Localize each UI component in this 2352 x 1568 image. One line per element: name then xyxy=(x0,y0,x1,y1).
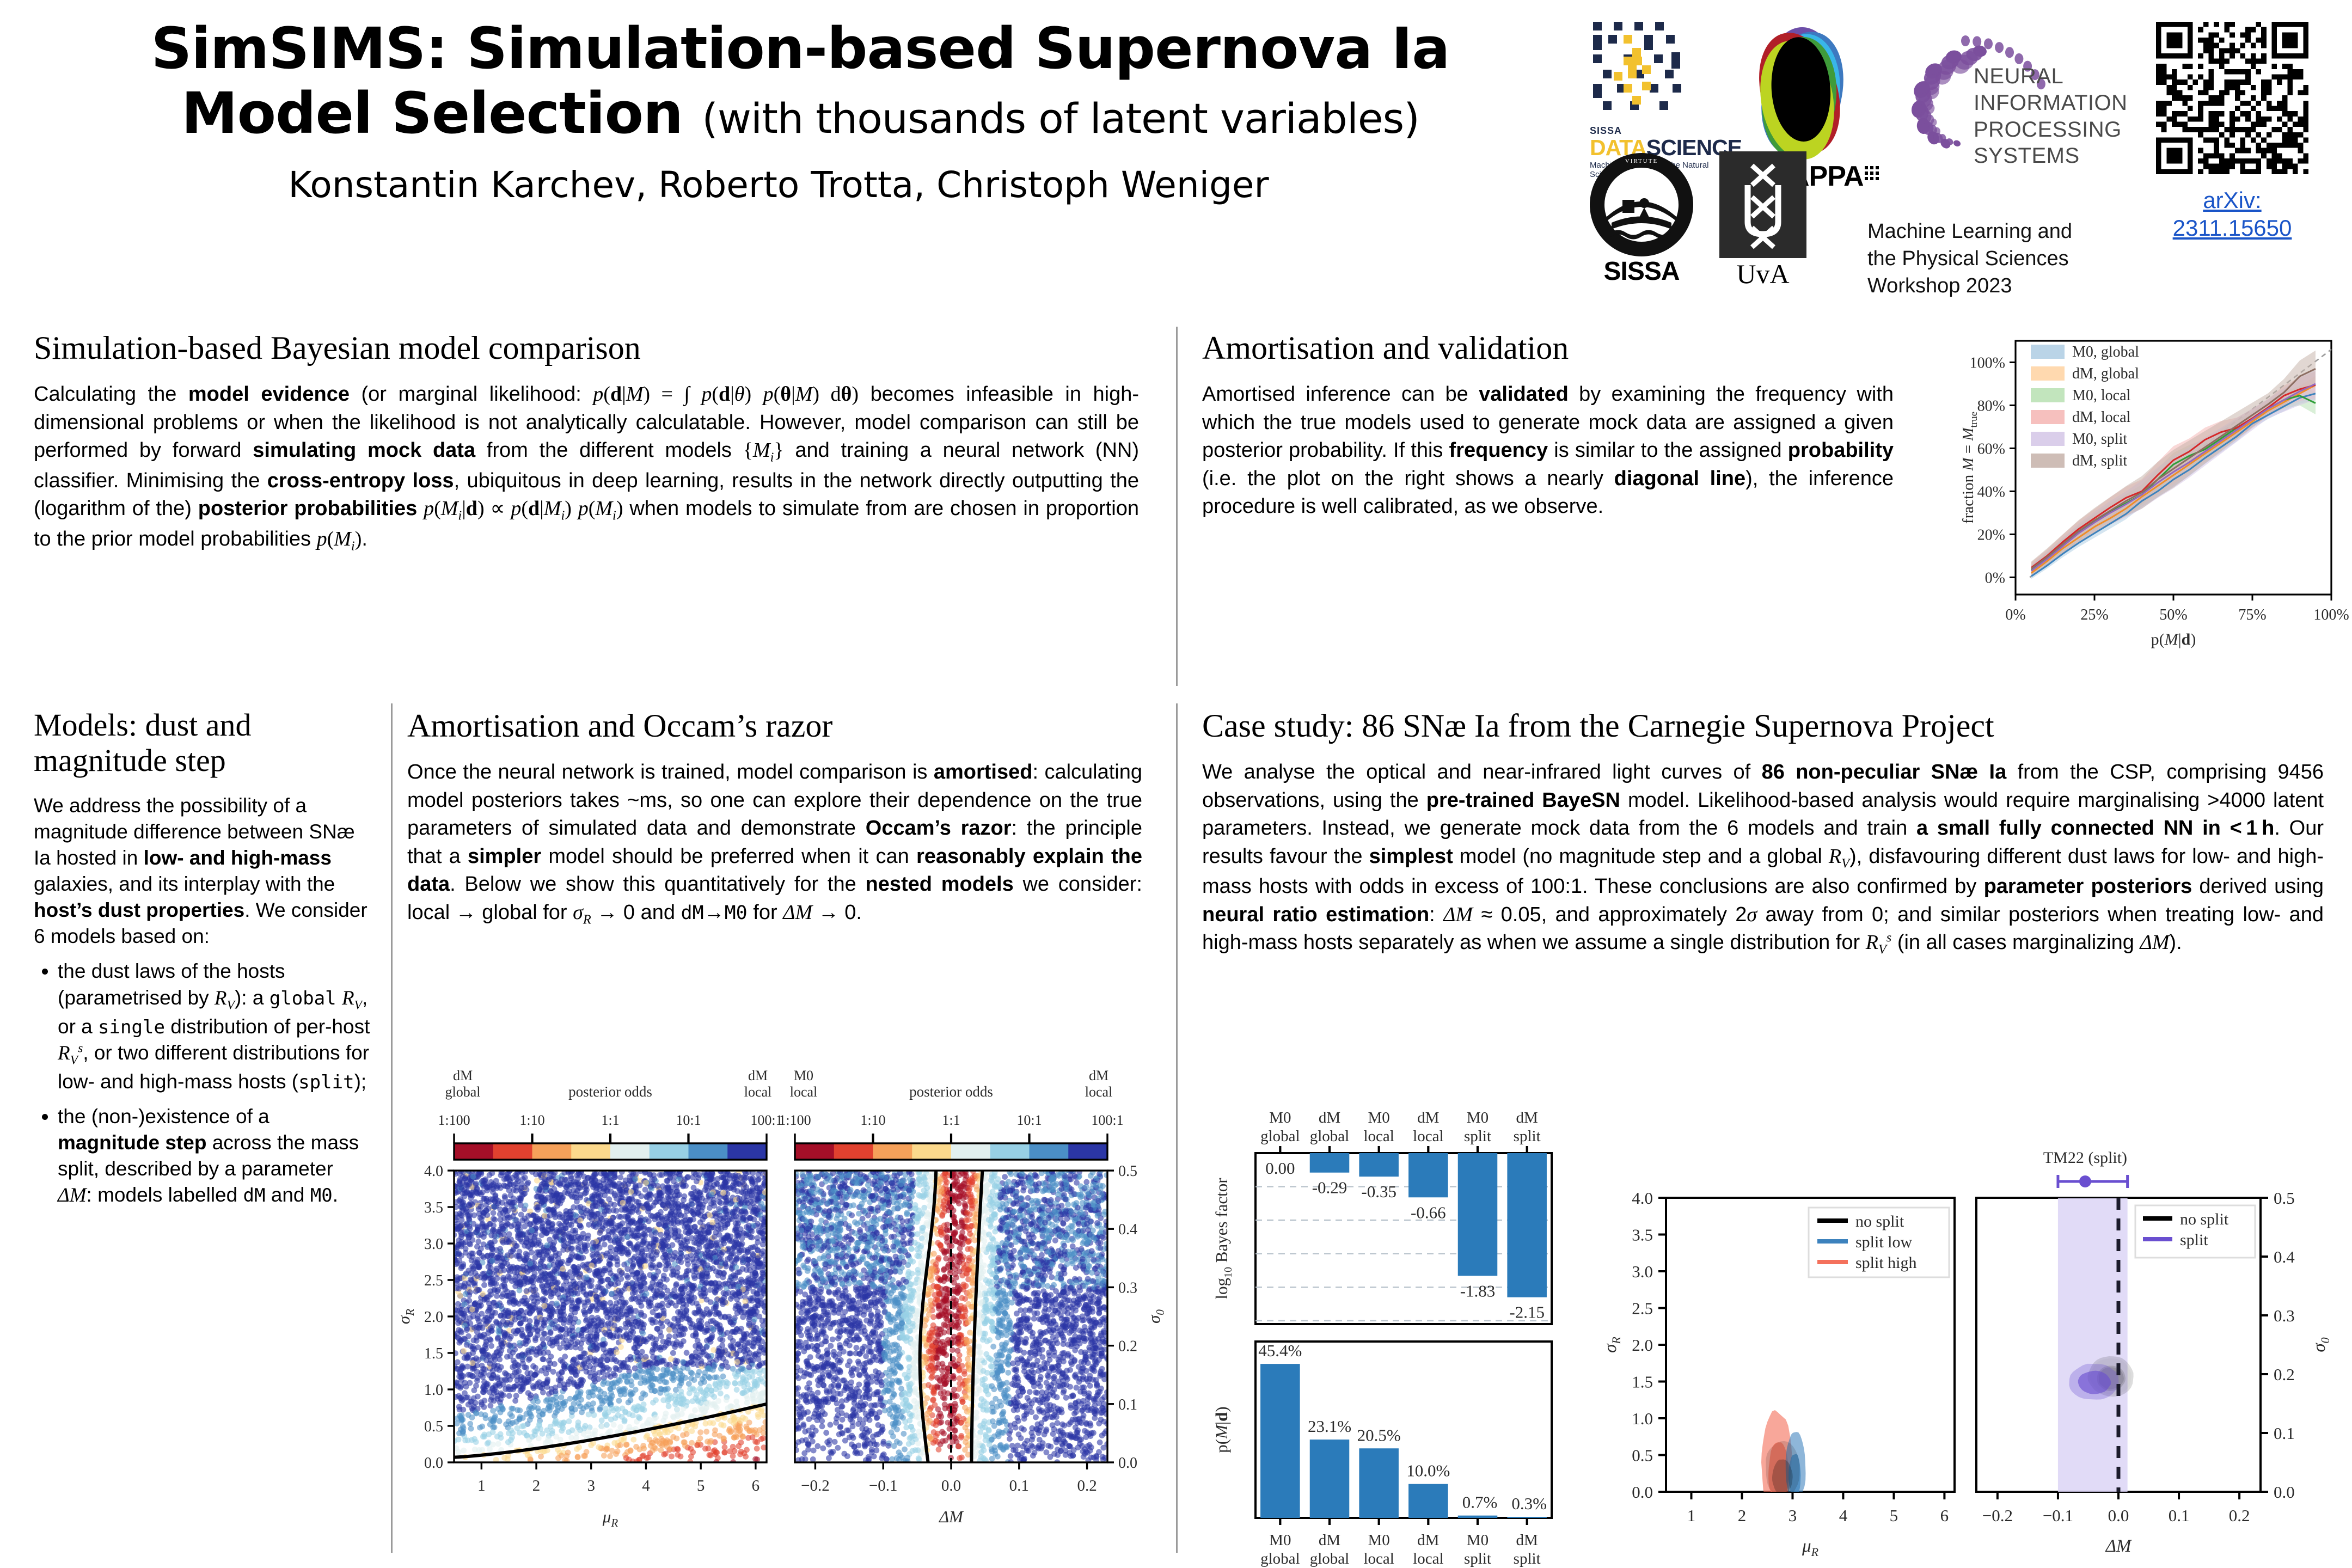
svg-text:M0: M0 xyxy=(794,1068,813,1083)
bar xyxy=(1359,1448,1399,1518)
model-bullet-list: the dust laws of the hosts (parametrised… xyxy=(34,958,371,1209)
divider-vertical-left xyxy=(391,703,393,1553)
svg-text:M0, local: M0, local xyxy=(2072,387,2131,404)
svg-text:dM, local: dM, local xyxy=(2072,409,2131,426)
code-single: single xyxy=(98,1016,165,1038)
svg-text:M0, split: M0, split xyxy=(2072,431,2127,448)
svg-text:VIRTUTE: VIRTUTE xyxy=(1625,158,1658,164)
section-body: We analyse the optical and near-infrared… xyxy=(1202,758,2324,959)
grappa-ring-icon xyxy=(1748,24,1857,160)
svg-text:1:10: 1:10 xyxy=(860,1112,885,1128)
bar xyxy=(1458,1516,1498,1518)
figure-calibration: 0%20%40%60%80%100%0%25%50%75%100%p(M|d)f… xyxy=(1916,324,2347,684)
code-M0: M0 xyxy=(310,1185,333,1206)
workshop-label: Machine Learning and the Physical Scienc… xyxy=(1867,218,2123,299)
svg-text:100%: 100% xyxy=(1970,354,2005,371)
svg-text:20%: 20% xyxy=(1977,526,2005,543)
svg-text:dM: dM xyxy=(453,1068,473,1083)
section-amortisation-validation: Amortisation and validation Amortised in… xyxy=(1202,330,1894,521)
divider-vertical-mid-top xyxy=(1176,327,1178,686)
bar xyxy=(1507,1153,1547,1297)
title-line-1: SimSIMS: Simulation-based Supernova Ia xyxy=(151,15,1450,82)
section-heading: Amortisation and Occam’s razor xyxy=(407,708,1142,744)
list-item: the dust laws of the hosts (parametrised… xyxy=(58,958,371,1095)
section-amortisation-occam: Amortisation and Occam’s razor Once the … xyxy=(407,708,1142,929)
bar xyxy=(1310,1440,1350,1518)
svg-text:local: local xyxy=(744,1084,772,1100)
svg-text:p(M|d): p(M|d) xyxy=(2151,630,2196,648)
svg-text:60%: 60% xyxy=(1977,440,2005,457)
section-heading: Amortisation and validation xyxy=(1202,330,1894,366)
neurips-wordmark: NEURAL INFORMATION PROCESSING SYSTEMS xyxy=(1974,63,2128,169)
divider-vertical-mid-bottom xyxy=(1176,703,1178,1553)
svg-text:posterior odds: posterior odds xyxy=(568,1083,652,1100)
svg-text:0%: 0% xyxy=(1985,569,2005,586)
code-global: global xyxy=(269,988,336,1009)
svg-text:100%: 100% xyxy=(2313,607,2349,623)
bar xyxy=(1507,1517,1547,1518)
section-heading: Case study: 86 SNæ Ia from the Carnegie … xyxy=(1202,708,2324,744)
code-dM: dM xyxy=(243,1185,266,1206)
svg-text:fraction M = Mtrue: fraction M = Mtrue xyxy=(1959,412,1980,524)
list-item: the (non-)existence of a magnitude step … xyxy=(58,1104,371,1209)
svg-text:25%: 25% xyxy=(2080,607,2108,623)
sissa-seal-icon: VIRTUTE xyxy=(1590,153,1693,256)
svg-text:80%: 80% xyxy=(1977,397,2005,414)
author-list: Konstantin Karchev, Roberto Trotta, Chri… xyxy=(33,164,1590,206)
svg-text:M0, global: M0, global xyxy=(2072,344,2139,360)
svg-text:100:1: 100:1 xyxy=(750,1112,782,1128)
svg-text:1:1: 1:1 xyxy=(601,1112,619,1128)
figure-contours: 0.00.51.01.52.02.53.03.54.0123456μRσRno … xyxy=(1573,1111,2347,1568)
bar xyxy=(1359,1153,1399,1177)
section-models-dust-magnitude: Models: dust and magnitude step We addre… xyxy=(34,708,371,1217)
uva-shield-icon xyxy=(1719,151,1806,258)
svg-text:0%: 0% xyxy=(2005,607,2025,623)
neurips-logo: NEURAL INFORMATION PROCESSING SYSTEMS xyxy=(1862,16,2134,234)
uva-logo: UvA xyxy=(1719,151,1845,290)
svg-text:1:1: 1:1 xyxy=(942,1112,960,1128)
bar xyxy=(1458,1153,1498,1276)
figure-bayes-and-posterior: 0.00-0.29-0.35-0.66-1.83-2.15M0globaldMg… xyxy=(1203,1111,1573,1568)
uva-wordmark: UvA xyxy=(1719,258,1806,290)
svg-text:posterior odds: posterior odds xyxy=(909,1083,993,1100)
section-body: Calculating the model evidence (or margi… xyxy=(34,381,1139,555)
svg-text:1:10: 1:10 xyxy=(519,1112,544,1128)
section-body: Amortised inference can be validated by … xyxy=(1202,381,1894,520)
svg-text:dM, split: dM, split xyxy=(2072,452,2127,469)
svg-text:local: local xyxy=(1085,1084,1113,1100)
section-body: We address the possibility of a magnitud… xyxy=(34,793,371,950)
section-case-study: Case study: 86 SNæ Ia from the Carnegie … xyxy=(1202,708,2324,959)
qr-code-icon[interactable] xyxy=(2156,22,2308,174)
svg-text:dM, global: dM, global xyxy=(2072,365,2139,382)
title-line-2: Model Selection xyxy=(181,80,683,146)
section-body: Once the neural network is trained, mode… xyxy=(407,758,1142,929)
svg-text:100:1: 100:1 xyxy=(1091,1112,1123,1128)
svg-text:40%: 40% xyxy=(1977,483,2005,500)
datascience-grid-icon xyxy=(1590,20,1720,123)
section-heading: Models: dust and magnitude step xyxy=(34,708,371,779)
sissa-seal-logo: VIRTUTE SISSA xyxy=(1590,153,1715,286)
page-title: SimSIMS: Simulation-based Supernova Ia M… xyxy=(33,16,1590,145)
section-sbi-model-comparison: Simulation-based Bayesian model comparis… xyxy=(34,330,1139,555)
arxiv-link[interactable]: arXiv: 2311.15650 xyxy=(2156,186,2308,242)
section-heading: Simulation-based Bayesian model comparis… xyxy=(34,330,1139,366)
poster-header: SimSIMS: Simulation-based Supernova Ia M… xyxy=(0,0,2352,316)
title-block: SimSIMS: Simulation-based Supernova Ia M… xyxy=(33,16,1590,206)
svg-text:global: global xyxy=(445,1084,481,1100)
svg-text:10:1: 10:1 xyxy=(1016,1112,1042,1128)
bar xyxy=(1408,1153,1448,1197)
svg-text:75%: 75% xyxy=(2238,607,2266,623)
sissa-wordmark: SISSA xyxy=(1590,256,1693,286)
title-subtitle: (with thousands of latent variables) xyxy=(702,94,1419,143)
svg-text:1:100: 1:100 xyxy=(438,1112,470,1128)
bar xyxy=(1408,1484,1448,1518)
svg-text:local: local xyxy=(790,1084,818,1100)
code-split: split xyxy=(298,1071,354,1093)
svg-text:50%: 50% xyxy=(2159,607,2187,623)
svg-text:dM: dM xyxy=(748,1068,768,1083)
svg-text:1:100: 1:100 xyxy=(779,1112,811,1128)
bar xyxy=(1260,1364,1300,1518)
qr-block[interactable]: arXiv: 2311.15650 xyxy=(2156,22,2319,242)
figure-occam-scatter: dMglobalposterior oddsdMlocal1:1001:101:… xyxy=(407,1067,1164,1557)
svg-text:dM: dM xyxy=(1089,1068,1108,1083)
bar xyxy=(1310,1153,1350,1173)
svg-text:10:1: 10:1 xyxy=(676,1112,701,1128)
